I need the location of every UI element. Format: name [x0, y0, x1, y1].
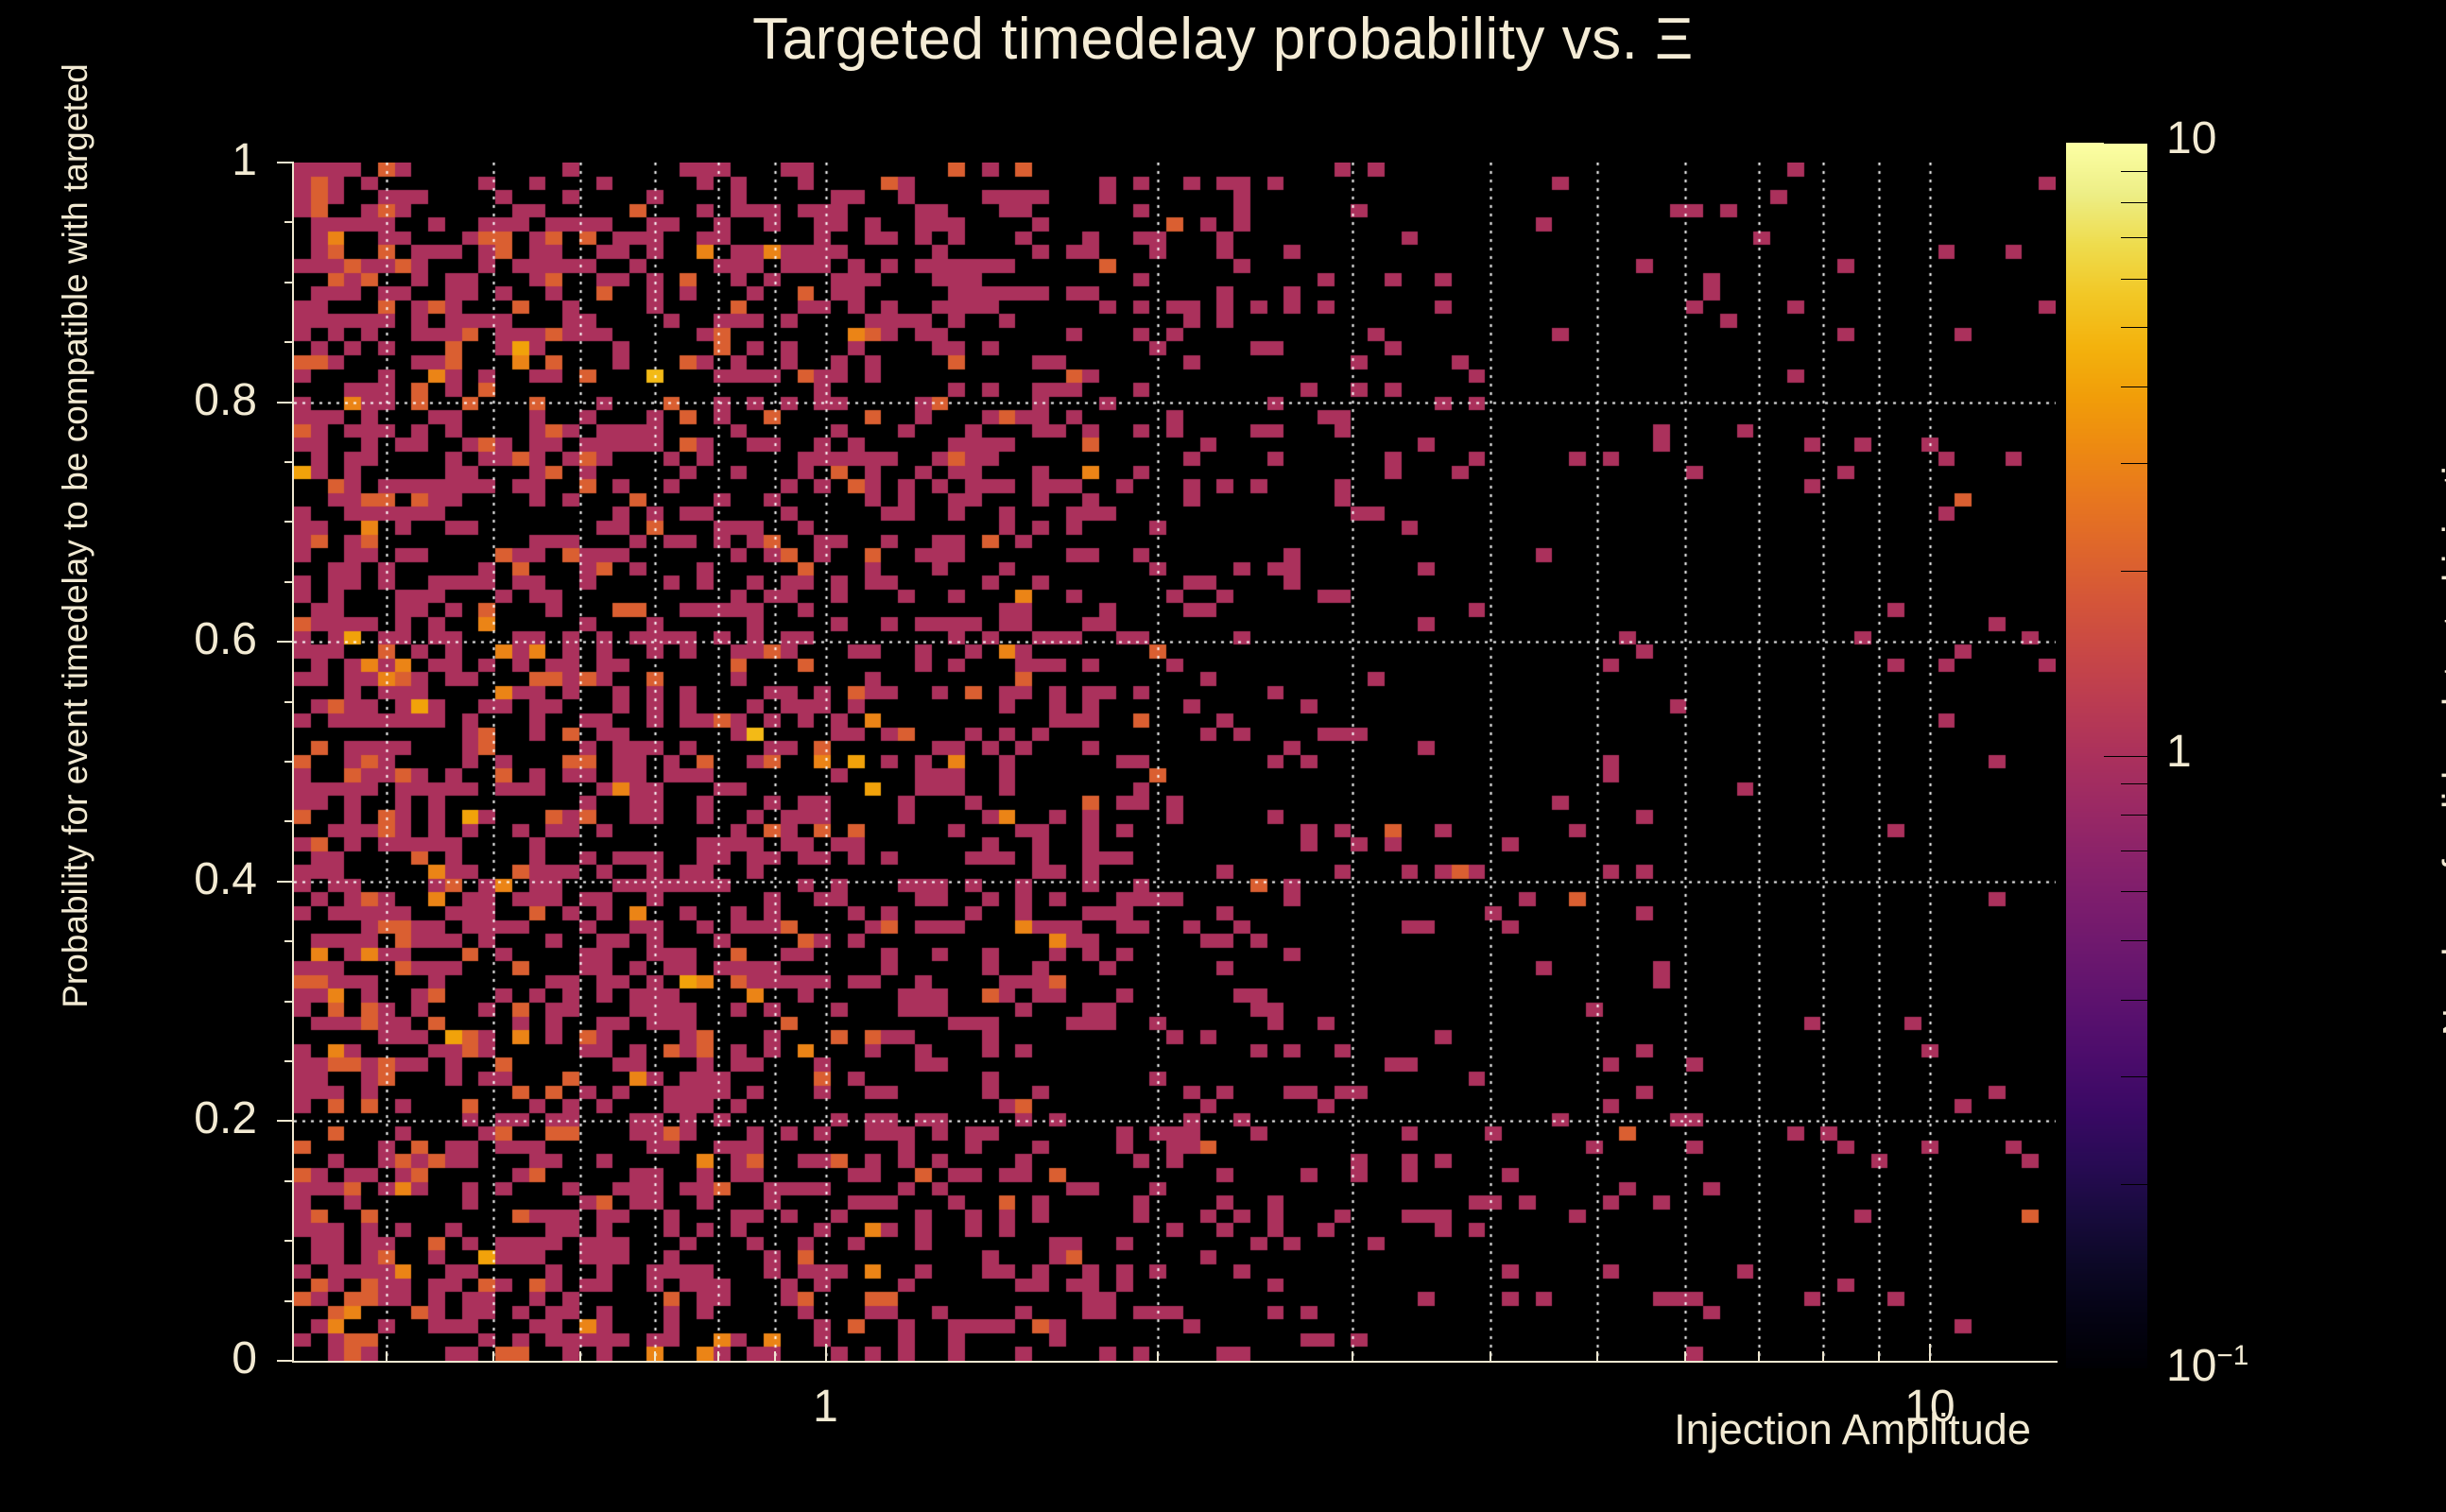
y-axis-tick-label: 0.4	[194, 857, 257, 902]
x-axis-minor-tick	[1352, 1351, 1353, 1361]
x-axis-minor-tick	[386, 1351, 388, 1361]
colorbar-tick-label: 1	[2166, 730, 2192, 775]
x-axis-minor-tick	[1596, 1351, 1598, 1361]
plot-canvas: Targeted timedelay probability vs. Ξ 00.…	[0, 0, 2446, 1512]
y-axis-tick-labels: 00.20.40.60.81	[0, 0, 276, 1512]
y-axis-minor-tick	[284, 1120, 294, 1122]
x-axis-line	[294, 1361, 2058, 1363]
y-axis-minor-tick	[284, 581, 294, 583]
x-axis-minor-tick	[825, 1351, 827, 1361]
y-axis-tick-label: 1	[232, 138, 257, 183]
y-axis-minor-tick	[284, 282, 294, 283]
y-axis-minor-tick	[284, 221, 294, 223]
x-axis-minor-tick	[654, 1351, 656, 1361]
colorbar-tick-label: 10−1	[2166, 1342, 2248, 1389]
y-axis-minor-tick	[284, 1060, 294, 1062]
x-axis-minor-tick	[1929, 1351, 1931, 1361]
colorbar[interactable]	[2066, 143, 2147, 1368]
y-axis-minor-tick	[284, 1001, 294, 1003]
x-axis-tick-label: 1	[813, 1384, 838, 1430]
y-axis-title: Probability for event timedelay to be co…	[56, 63, 95, 1008]
x-axis-minor-tick	[1157, 1351, 1159, 1361]
x-axis-minor-tick	[579, 1351, 581, 1361]
x-axis-minor-tick	[1878, 1351, 1880, 1361]
heatmap-cells	[294, 163, 2056, 1361]
colorbar-major-tick	[2104, 1368, 2147, 1369]
y-axis-minor-tick	[284, 1240, 294, 1242]
y-axis-minor-tick	[284, 521, 294, 523]
colorbar-title: Number of valid undetected injections	[2437, 296, 2446, 1146]
page-title: Targeted timedelay probability vs. Ξ	[0, 6, 2446, 73]
x-axis-minor-tick	[492, 1351, 494, 1361]
y-axis-minor-tick	[284, 1180, 294, 1182]
colorbar-gradient	[2066, 143, 2147, 1368]
y-axis-minor-tick	[284, 701, 294, 703]
y-axis-tick-label: 0	[232, 1336, 257, 1382]
y-axis-minor-tick	[284, 940, 294, 942]
y-axis-minor-tick	[284, 461, 294, 463]
y-axis-minor-tick	[284, 1300, 294, 1302]
x-axis-title: Injection Amplitude	[1531, 1405, 2174, 1454]
colorbar-tick-label: 10	[2166, 116, 2216, 162]
y-axis-minor-tick	[284, 820, 294, 822]
heatmap-plot-area[interactable]	[294, 163, 2056, 1361]
y-axis-tick-label: 0.2	[194, 1096, 257, 1142]
y-axis-minor-tick	[284, 641, 294, 643]
x-axis-minor-tick	[1758, 1351, 1760, 1361]
y-axis-minor-tick	[284, 1360, 294, 1362]
x-axis-minor-tick	[1822, 1351, 1824, 1361]
y-axis-minor-tick	[284, 761, 294, 763]
y-axis-minor-tick	[284, 881, 294, 883]
y-axis-minor-tick	[284, 402, 294, 404]
y-axis-tick-label: 0.8	[194, 378, 257, 423]
x-axis-minor-tick	[1490, 1351, 1491, 1361]
y-axis-minor-tick	[284, 341, 294, 343]
y-axis-tick-label: 0.6	[194, 617, 257, 662]
x-axis-minor-tick	[774, 1351, 776, 1361]
y-axis-minor-tick	[284, 162, 294, 163]
x-axis-minor-tick	[717, 1351, 719, 1361]
x-axis-minor-tick	[1684, 1351, 1686, 1361]
